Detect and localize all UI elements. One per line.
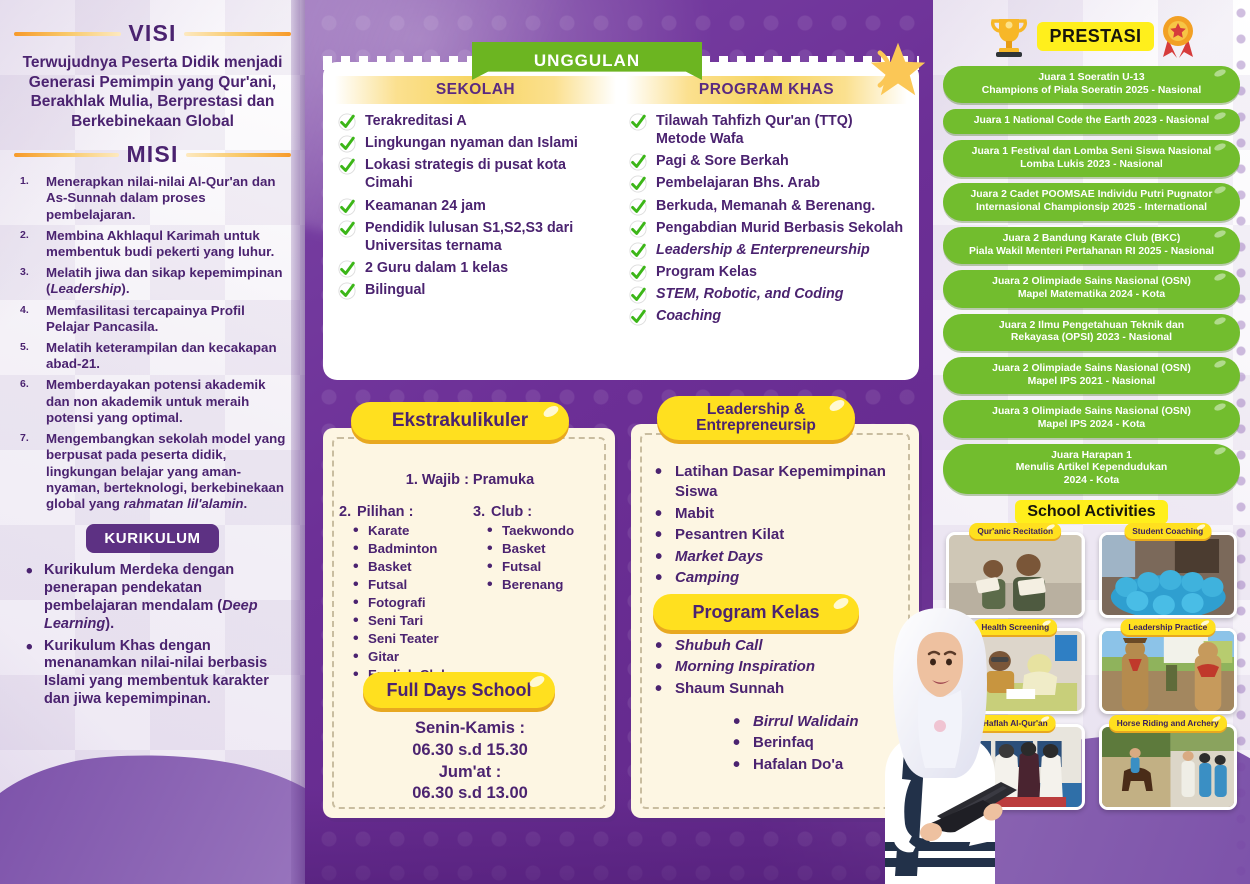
badge-gloss [1213,359,1226,369]
achievement-item: Juara 1 Festival dan Lomba Seni Siswa Na… [943,140,1240,177]
pill-gloss [542,404,560,419]
achievement-item: Juara 1 National Code the Earth 2023 - N… [943,109,1240,134]
ekstra-pilihan-list: KarateBadmintonBasketFutsalFotografiSeni… [353,522,469,683]
list-item: Market Days [653,547,905,567]
feature-label: Tilawah Tahfizh Qur'an (TTQ) Metode Wafa [656,113,853,147]
caption-gloss [1046,523,1056,530]
feature-item: Pengabdian Murid Berbasis Sekolah [628,219,905,237]
feature-item: Pagi & Sore Berkah [628,152,905,170]
feature-item: Leadership & Enterpreneurship [628,241,905,259]
poster-root: VISI Terwujudnya Peserta Didik menjadi G… [0,0,1250,884]
misi-heading-row: MISI [14,141,291,168]
activity-photo-item: Horse Riding and Archery [1099,724,1238,810]
sekolah-column: SEKOLAH Terakreditasi ALingkungan nyaman… [335,76,616,372]
achievement-line: Champions of Piala Soeratin 2025 - Nasio… [982,85,1201,96]
badge-gloss [1213,142,1226,152]
feature-label: Berkuda, Memanah & Berenang. [656,198,875,214]
ekstra-club-column: 3.Club : TaekwondoBasketFutsalBerenang [473,504,603,683]
check-icon [629,264,647,282]
activity-photo [1099,532,1238,618]
ekstrakulikuler-card: 1. Wajib : Pramuka 2.Pilihan : KarateBad… [323,428,615,818]
achievement-item: Juara 2 Olimpiade Sains Nasional (OSN)Ma… [943,270,1240,307]
feature-label: Program Kelas [656,264,757,280]
feature-item: Tilawah Tahfizh Qur'an (TTQ) Metode Wafa [628,112,905,148]
list-item: Latihan Dasar Kepemimpinan Siswa [653,462,905,503]
check-icon [629,308,647,326]
pill-gloss [528,674,546,689]
kurikulum-list: Kurikulum Merdeka dengan penerapan pende… [14,562,291,709]
achievement-line: Juara 1 National Code the Earth 2023 - N… [974,115,1210,126]
ekstrakulikuler-title: Ekstrakulikuler [392,411,528,431]
ekstrakulikuler-title-pill: Ekstrakulikuler [351,402,569,440]
list-item: Gitar [353,648,469,666]
full-days-school-text: Senin-Kamis : 06.30 s.d 15.30 Jum'at : 0… [339,718,601,805]
achievement-item: Juara 2 Olimpiade Sains Nasional (OSN)Ma… [943,357,1240,394]
divider-left [14,153,119,157]
check-icon [629,198,647,216]
badge-gloss [1213,446,1226,456]
list-item: Mabit [653,504,905,524]
list-item: Pesantren Kilat [653,525,905,545]
check-icon [338,282,356,300]
list-item: Seni Teater [353,630,469,648]
caption-gloss [1200,619,1210,626]
fds-line-2: 06.30 s.d 15.30 [339,740,601,762]
star-icon [869,40,927,98]
badge-gloss [1213,272,1226,282]
achievement-line: Lomba Lukis 2023 - Nasional [1020,159,1163,170]
divider-right [186,153,291,157]
activity-photo [1099,628,1238,714]
list-item: Fotografi [353,594,469,612]
feature-item: Keamanan 24 jam [337,197,614,215]
badge-gloss [1213,111,1226,121]
trophy-icon [985,12,1033,60]
activity-caption: Student Coaching [1124,523,1211,539]
list-item: Berenang [487,576,603,594]
achievement-line: Juara 1 Soeratin U-13 [1038,72,1144,83]
misi-item: Melatih jiwa dan sikap kepemimpinan (Lea… [16,265,289,297]
school-activities-title: School Activities [1015,500,1167,524]
feature-label: Lingkungan nyaman dan Islami [365,135,578,151]
achievement-item: Juara Harapan 1Menulis Artikel Kependudu… [943,444,1240,494]
misi-item: Menerapkan nilai-nilai Al-Qur'an dan As-… [16,174,289,223]
achievement-line: Juara Harapan 1 [1051,450,1132,461]
activity-photo-item: Student Coaching [1099,532,1238,618]
check-icon [629,153,647,171]
medal-icon [1158,13,1198,59]
check-icon [338,260,356,278]
check-icon [338,157,356,175]
achievement-line: Mapel IPS 2024 - Kota [1038,419,1145,430]
badge-gloss [1213,402,1226,412]
feature-label: Coaching [656,308,721,324]
full-days-school-pill: Full Days School [363,672,555,708]
ekstra-club-list: TaekwondoBasketFutsalBerenang [487,522,603,594]
feature-label: Pengabdian Murid Berbasis Sekolah [656,220,903,236]
caption-gloss [1196,523,1206,530]
kurikulum-item: Kurikulum Merdeka dengan penerapan pende… [24,562,287,633]
feature-item: Pendidik lulusan S1,S2,S3 dari Universit… [337,219,614,255]
feature-label: Bilingual [365,282,425,298]
feature-item: Bilingual [337,281,614,299]
achievement-list: Juara 1 Soeratin U-13Champions of Piala … [943,66,1240,494]
check-icon [338,220,356,238]
feature-item: 2 Guru dalam 1 kelas [337,259,614,277]
feature-item: Terakreditasi A [337,112,614,130]
misi-item: Memberdayakan potensi akademik dan non a… [16,377,289,426]
prestasi-header: PRESTASI [943,10,1240,62]
fds-line-3: Jum'at : [339,762,601,784]
full-days-school-title: Full Days School [386,681,531,700]
achievement-item: Juara 3 Olimpiade Sains Nasional (OSN)Ma… [943,400,1240,437]
program-kelas-title: Program Kelas [692,603,819,622]
feature-item: Program Kelas [628,263,905,281]
feature-label: STEM, Robotic, and Coding [656,286,843,302]
misi-item: Melatih keterampilan dan kecakapan abad-… [16,340,289,372]
ekstra-pilihan-heading: 2.Pilihan : [339,504,469,520]
achievement-item: Juara 2 Cadet POOMSAE Individu Putri Pug… [943,183,1240,220]
kurikulum-badge: KURIKULUM [86,524,218,553]
ekstra-pilihan-column: 2.Pilihan : KarateBadmintonBasketFutsalF… [339,504,469,683]
prestasi-title: PRESTASI [1037,22,1155,51]
achievement-line: Juara 2 Bandung Karate Club (BKC) [1003,233,1181,244]
feature-label: Pendidik lulusan S1,S2,S3 dari Universit… [365,220,573,254]
ekstra-pilihan-label: Pilihan : [357,504,413,520]
achievement-item: Juara 2 Bandung Karate Club (BKC)Piala W… [943,227,1240,264]
achievement-line: Mapel IPS 2021 - Nasional [1028,376,1156,387]
list-item: Futsal [353,576,469,594]
achievement-line: Juara 2 Olimpiade Sains Nasional (OSN) [992,276,1191,287]
activity-caption: Horse Riding and Archery [1109,715,1227,731]
list-item: Taekwondo [487,522,603,540]
center-column: UNGGULAN SEKOLAH Terakreditasi ALingkung… [305,0,933,884]
badge-gloss [1213,229,1226,239]
ekstra-club-number: 3. [473,504,491,520]
leadership-title-pill: Leadership & Entrepreneursip [657,396,855,440]
program-khas-heading: PROGRAM KHAS [626,76,907,104]
left-wave-front [0,741,305,884]
feature-item: Lokasi strategis di pusat kota Cimahi [337,156,614,192]
list-item: Karate [353,522,469,540]
achievement-line: Internasional Championsip 2025 - Interna… [976,202,1207,213]
misi-item: Memfasilitasi tercapainya Profil Pelajar… [16,303,289,335]
feature-label: Pembelajaran Bhs. Arab [656,175,820,191]
feature-item: Berkuda, Memanah & Berenang. [628,197,905,215]
visi-title: VISI [128,20,176,47]
check-icon [338,198,356,216]
badge-gloss [1213,68,1226,78]
divider-right [184,32,291,36]
achievement-line: Juara 2 Olimpiade Sains Nasional (OSN) [992,363,1191,374]
check-icon [629,220,647,238]
ekstra-club-heading: 3.Club : [473,504,603,520]
feature-label: 2 Guru dalam 1 kelas [365,260,508,276]
feature-item: Coaching [628,307,905,325]
achievement-line: Juara 2 Ilmu Pengetahuan Teknik dan [999,320,1184,331]
feature-item: STEM, Robotic, and Coding [628,285,905,303]
feature-label: Leadership & Enterpreneurship [656,242,870,258]
list-item: Badminton [353,540,469,558]
ekstra-pilihan-number: 2. [339,504,357,520]
feature-label: Pagi & Sore Berkah [656,153,789,169]
badge-gloss [1213,316,1226,326]
check-icon [629,286,647,304]
left-content: VISI Terwujudnya Peserta Didik menjadi G… [0,0,305,709]
misi-title: MISI [126,141,178,168]
fds-line-1: Senin-Kamis : [339,718,601,740]
misi-list: Menerapkan nilai-nilai Al-Qur'an dan As-… [14,174,291,512]
unggulan-card: SEKOLAH Terakreditasi ALingkungan nyaman… [323,62,919,380]
ekstra-wajib: 1. Wajib : Pramuka [339,472,601,488]
achievement-line: Piala Wakil Menteri Pertahanan RI 2025 -… [969,246,1214,257]
kurikulum-item: Kurikulum Khas dengan menanamkan nilai-n… [24,638,287,709]
check-icon [629,242,647,260]
leadership-title: Leadership & Entrepreneursip [663,402,849,435]
program-khas-column: PROGRAM KHAS Tilawah Tahfizh Qur'an (TTQ… [626,76,907,372]
achievement-line: Juara 3 Olimpiade Sains Nasional (OSN) [992,406,1191,417]
list-item: Basket [487,540,603,558]
visi-heading-row: VISI [14,20,291,47]
list-item: Futsal [487,558,603,576]
visi-text: Terwujudnya Peserta Didik menjadi Genera… [14,53,291,133]
achievement-line: Juara 1 Festival dan Lomba Seni Siswa Na… [972,146,1212,157]
program-kelas-pill: Program Kelas [653,594,859,630]
activity-photo-item: Leadership Practice [1099,628,1238,714]
divider-left [14,32,121,36]
ekstra-two-columns: 2.Pilihan : KarateBadmintonBasketFutsalF… [339,504,603,683]
leadership-list: Latihan Dasar Kepemimpinan SiswaMabitPes… [653,462,905,589]
unggulan-columns: SEKOLAH Terakreditasi ALingkungan nyaman… [335,76,907,372]
sekolah-list: Terakreditasi ALingkungan nyaman dan Isl… [335,112,616,299]
badge-gloss [1213,185,1226,195]
achievement-item: Juara 2 Ilmu Pengetahuan Teknik danRekay… [943,314,1240,351]
achievement-line: 2024 - Kota [1064,475,1119,486]
achievement-line: Rekayasa (OPSI) 2023 - Nasional [1011,332,1172,343]
feature-label: Lokasi strategis di pusat kota Cimahi [365,157,566,191]
list-item: Seni Tari [353,612,469,630]
program-khas-list: Tilawah Tahfizh Qur'an (TTQ) Metode Wafa… [626,112,907,326]
feature-label: Terakreditasi A [365,113,467,129]
achievement-line: Juara 2 Cadet POOMSAE Individu Putri Pug… [971,189,1213,200]
check-icon [338,135,356,153]
activity-caption: Qur'anic Recitation [969,523,1061,539]
sekolah-heading: SEKOLAH [335,76,616,104]
feature-label: Keamanan 24 jam [365,198,486,214]
activity-caption: Leadership Practice [1120,619,1215,635]
caption-gloss [1211,715,1221,722]
check-icon [338,113,356,131]
activity-photo [1099,724,1238,810]
feature-item: Pembelajaran Bhs. Arab [628,174,905,192]
left-panel: VISI Terwujudnya Peserta Didik menjadi G… [0,0,305,884]
misi-item: Membina Akhlaqul Karimah untuk membentuk… [16,228,289,260]
achievement-line: Mapel Matematika 2024 - Kota [1018,289,1165,300]
fds-line-4: 06.30 s.d 13.00 [339,783,601,805]
feature-item: Lingkungan nyaman dan Islami [337,134,614,152]
misi-item: Mengembangkan sekolah model yang berpusa… [16,431,289,512]
student-photo [833,580,1047,884]
check-icon [629,113,647,131]
ekstra-club-label: Club : [491,504,532,520]
achievement-line: Menulis Artikel Kependudukan [1016,462,1167,473]
achievement-item: Juara 1 Soeratin U-13Champions of Piala … [943,66,1240,103]
check-icon [629,175,647,193]
list-item: Basket [353,558,469,576]
